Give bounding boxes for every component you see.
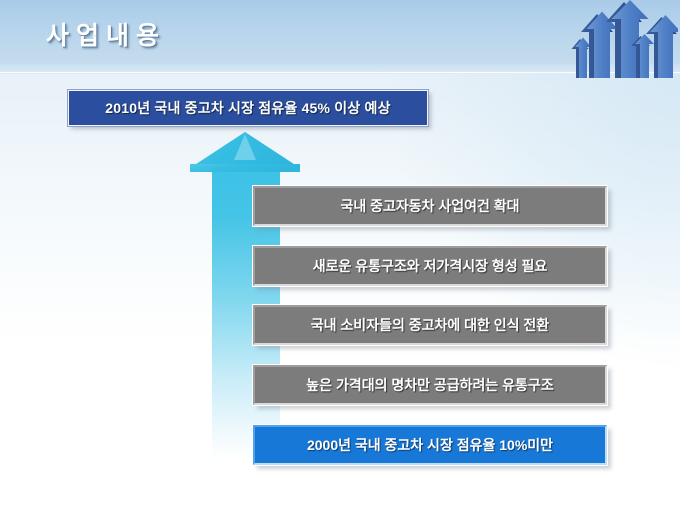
corner-arrow-5 [646, 15, 678, 78]
step-box-4[interactable]: 높은 가격대의 명차만 공급하려는 유통구조 [253, 365, 607, 405]
headline-text: 2010년 국내 중고차 시장 점유율 45% 이상 예상 [105, 98, 390, 118]
step-box-3[interactable]: 국내 소비자들의 중고차에 대한 인식 전환 [253, 305, 607, 345]
big-upward-arrow-icon [182, 130, 308, 460]
step-box-5[interactable]: 2000년 국내 중고차 시장 점유율 10%미만 [253, 425, 607, 465]
page-title: 사업내용 [46, 16, 166, 52]
corner-arrow-1 [572, 38, 592, 79]
step-box-1-label: 국내 중고자동차 사업여건 확대 [340, 196, 519, 216]
step-box-4-label: 높은 가격대의 명차만 공급하려는 유통구조 [306, 375, 553, 395]
step-box-2[interactable]: 새로운 유통구조와 저가격시장 형성 필요 [253, 246, 607, 286]
step-box-3-label: 국내 소비자들의 중고차에 대한 인식 전환 [311, 315, 549, 335]
rising-arrows-icon [570, 0, 678, 78]
step-box-1[interactable]: 국내 중고자동차 사업여건 확대 [253, 186, 607, 226]
headline-box[interactable]: 2010년 국내 중고차 시장 점유율 45% 이상 예상 [68, 90, 428, 126]
step-box-2-label: 새로운 유통구조와 저가격시장 형성 필요 [313, 256, 548, 276]
step-box-5-label: 2000년 국내 중고차 시장 점유율 10%미만 [307, 435, 553, 455]
slide-canvas: 사업내용 [0, 0, 680, 510]
